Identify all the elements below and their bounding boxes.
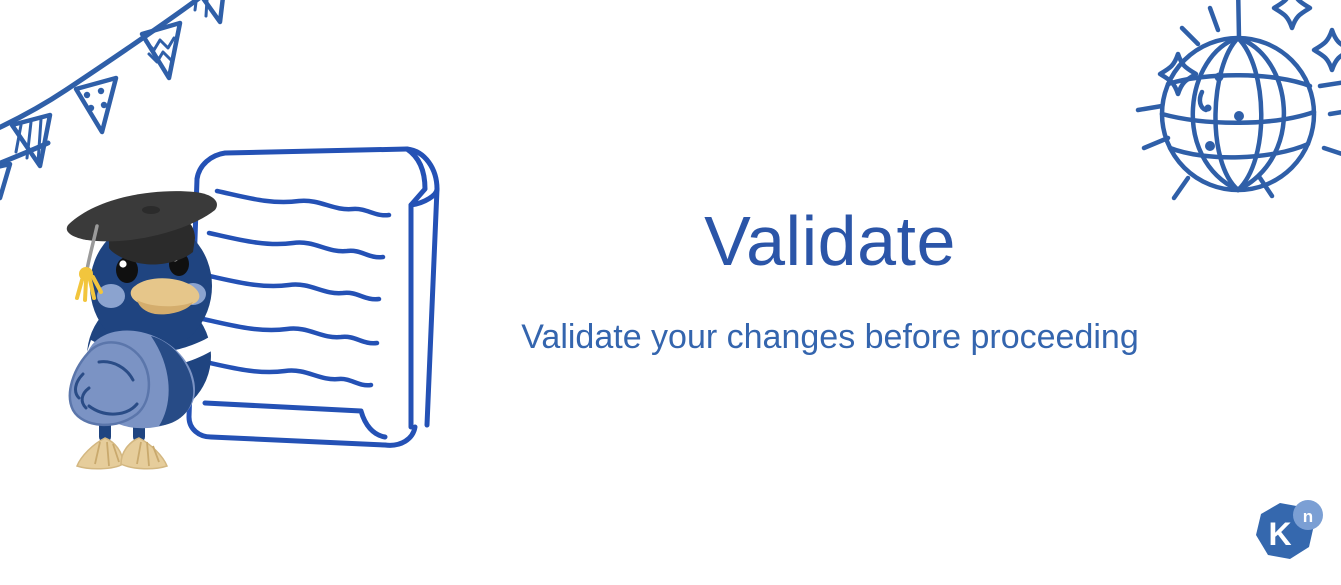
sparkle-star xyxy=(1314,30,1341,70)
kn-brand-logo[interactable]: K n xyxy=(1248,497,1328,569)
disco-ball-icon xyxy=(1118,0,1341,230)
validate-banner: Validate Validate your changes before pr… xyxy=(0,0,1341,585)
page-title: Validate xyxy=(430,205,1230,279)
disco-facet-dot xyxy=(1234,111,1244,121)
bird-cheek-left xyxy=(97,284,125,308)
disco-facet-dot xyxy=(1205,105,1212,112)
bunting-flag-dots xyxy=(76,78,116,132)
hero-text-block: Validate Validate your changes before pr… xyxy=(430,205,1230,357)
logo-letter-k: K xyxy=(1268,516,1291,552)
disco-facet-dot xyxy=(1205,141,1215,151)
bird-feet xyxy=(77,438,167,469)
page-subtitle: Validate your changes before proceeding xyxy=(430,279,1230,358)
bunting-flag-zigzag xyxy=(142,23,180,78)
logo-letter-n: n xyxy=(1303,507,1313,526)
disco-facet-dot xyxy=(1215,73,1224,82)
sparkle-star xyxy=(1274,0,1310,28)
bunting-flag-partial-left xyxy=(0,164,10,198)
graduate-bird-mascot xyxy=(55,190,245,475)
bunting-flag-partial-top xyxy=(190,0,226,22)
